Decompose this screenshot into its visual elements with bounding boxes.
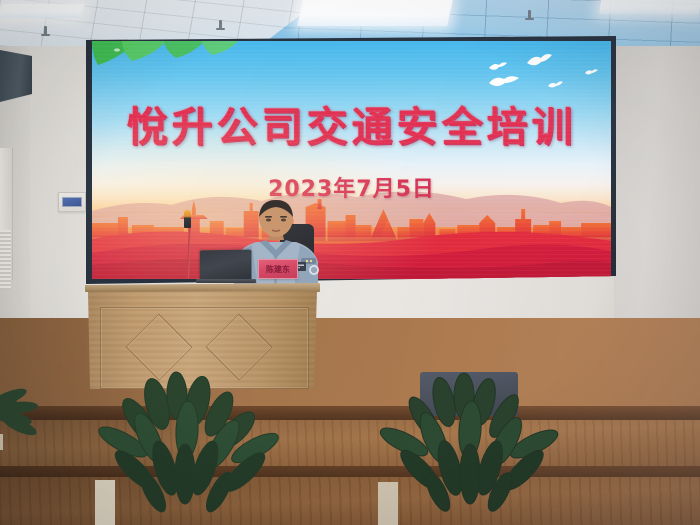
ceiling-panel-light [297, 0, 453, 26]
white-dove-icon [487, 73, 521, 89]
led-video-wall[interactable]: 悅升公司交通安全培训 2023年7月5日 [86, 36, 616, 284]
desk-nameplate: 陈建东 [258, 259, 298, 279]
slide-title: 悅升公司交通安全培训 [92, 93, 611, 153]
white-dove-icon [524, 51, 554, 69]
sprinkler-head-icon [528, 10, 531, 19]
laptop-screen[interactable] [200, 250, 252, 282]
nameplate-text: 陈建东 [266, 264, 290, 275]
ceiling-panel-light [0, 4, 85, 18]
sprinkler-head-icon [44, 26, 47, 35]
led-screen-surface: 悅升公司交通安全培训 2023年7月5日 [92, 41, 611, 279]
ac-thermostat-panel[interactable] [58, 192, 86, 212]
white-dove-icon [487, 59, 509, 73]
red-hill-waves [92, 221, 611, 279]
sprinkler-head-icon [219, 20, 222, 29]
thermostat-display [62, 197, 82, 207]
wall-speaker [0, 50, 32, 102]
potted-plant-far-left [0, 378, 56, 450]
photo-scene: 悅升公司交通安全培训 2023年7月5日 [0, 0, 700, 525]
potted-plant-left [95, 368, 285, 525]
green-leaves-decoration [92, 41, 242, 75]
slide-date: 2023年7月5日 [92, 171, 611, 203]
right-wall [614, 18, 700, 330]
podium-top-surface [85, 283, 320, 292]
white-dove-icon [547, 79, 564, 90]
presentation-slide: 悅升公司交通安全培训 2023年7月5日 [92, 41, 611, 279]
microphone-icon [184, 210, 191, 228]
potted-plant-right [378, 372, 568, 525]
ceiling-panel-light [599, 0, 700, 14]
white-dove-icon [584, 67, 599, 77]
air-conditioner-grille [0, 230, 11, 290]
